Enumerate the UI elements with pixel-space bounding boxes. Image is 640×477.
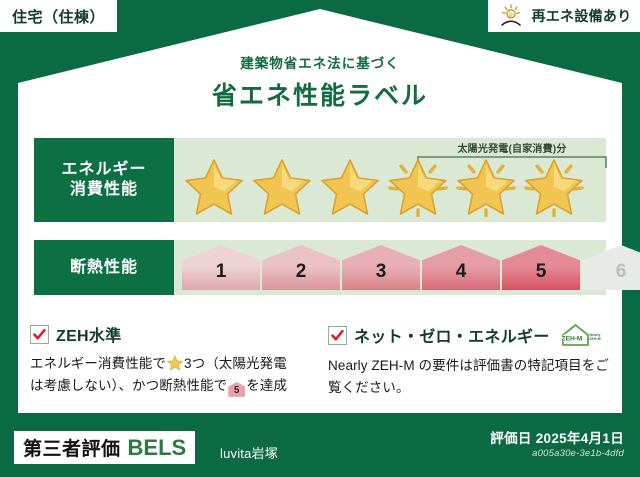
star-icon xyxy=(316,156,384,218)
insulation-performance-body: 1234567 xyxy=(174,240,606,295)
badge-renewable-equipment: D 再エネ設備あり xyxy=(488,0,640,32)
zeh-checkbox[interactable] xyxy=(30,325,49,344)
insulation-performance-label-panel: 断熱性能 xyxy=(34,240,174,295)
badge-building-type-label: 住宅（住棟） xyxy=(12,6,105,27)
note-zeh-header: ZEH水準 xyxy=(30,322,318,346)
energy-label-line1: エネルギー xyxy=(61,160,146,180)
nze-checkbox[interactable] xyxy=(328,326,347,345)
insulation-grade-strip: 1234567 xyxy=(182,245,640,290)
star-rating xyxy=(174,156,606,218)
bels-wordmark: BELS xyxy=(128,435,187,461)
svg-text:ZEH-M: ZEH-M xyxy=(589,337,600,341)
note-nze-header: ネット・ゼロ・エネルギー ZEH-M Nearly ZEH-M xyxy=(328,322,620,348)
star-icon-solar xyxy=(520,156,588,218)
note-zeh-text-3: を達成 xyxy=(246,378,287,393)
energy-performance-body: 太陽光発電(自家消費)分 xyxy=(174,138,606,222)
svg-text:ZEH-M: ZEH-M xyxy=(561,336,582,343)
insulation-grade-value: 5 xyxy=(536,261,547,283)
insulation-grade-value: 2 xyxy=(296,261,307,283)
star-icon xyxy=(180,156,248,218)
bels-third-party-label: 第三者評価 xyxy=(23,434,121,461)
insulation-grade-value: 1 xyxy=(216,261,227,283)
note-zeh-standard: ZEH水準 エネルギー消費性能で3つ（太陽光発電は考慮しない）、かつ断熱性能で5… xyxy=(30,322,318,397)
title-subtitle: 建築物省エネ法に基づく xyxy=(0,52,640,72)
note-zeh-text-1: エネルギー消費性能で xyxy=(30,356,166,371)
solar-bracket-label: 太陽光発電(自家消費)分 xyxy=(402,140,622,155)
energy-performance-label: 住宅（住棟） D 再エネ設備あり 建築物省エネ法に基づく 省エネ性能ラベル xyxy=(0,0,640,477)
evaluation-id: a005a30e-3e1b-4dfd xyxy=(532,448,624,459)
property-name: luvita岩塚 xyxy=(220,443,278,462)
note-zeh-title: ZEH水準 xyxy=(56,322,122,346)
badge-building-type: 住宅（住棟） xyxy=(0,0,117,32)
insulation-grade-1: 1 xyxy=(182,245,260,290)
note-zeh-star-count: 3つ（太陽光発電 xyxy=(184,356,287,371)
note-nze-body: Nearly ZEH-M の要件は評価書の特記項目をご覧ください。 xyxy=(328,355,620,399)
footer: 第三者評価 BELS luvita岩塚 評価日 2025年4月1日 a005a3… xyxy=(0,417,640,477)
star-icon-solar xyxy=(384,156,452,218)
star-icon-solar xyxy=(452,156,520,218)
title-block: 建築物省エネ法に基づく 省エネ性能ラベル xyxy=(0,52,640,112)
solar-sun-icon: D xyxy=(500,4,526,28)
note-net-zero-energy: ネット・ゼロ・エネルギー ZEH-M Nearly ZEH-M Nearly Z… xyxy=(328,322,620,399)
bels-badge: 第三者評価 BELS xyxy=(14,431,195,464)
note-zeh-text-2: は考慮しない）、かつ断熱性能で xyxy=(30,378,227,393)
note-zeh-body: エネルギー消費性能で3つ（太陽光発電は考慮しない）、かつ断熱性能で5を達成 xyxy=(30,353,318,397)
insulation-grade-4: 4 xyxy=(422,245,500,290)
star-icon xyxy=(248,156,316,218)
insulation-performance-row: 断熱性能 1234567 xyxy=(34,240,606,295)
insulation-grade-6: 6 xyxy=(582,245,640,290)
insulation-grade-5: 5 xyxy=(502,245,580,290)
insulation-label: 断熱性能 xyxy=(70,258,138,278)
insulation-grade-3: 3 xyxy=(342,245,420,290)
note-nze-title: ネット・ゼロ・エネルギー xyxy=(354,323,550,347)
insulation-grade-2: 2 xyxy=(262,245,340,290)
badge-renewable-label: 再エネ設備あり xyxy=(531,6,631,26)
zeh-m-logo-icon: ZEH-M Nearly ZEH-M xyxy=(559,322,603,348)
evaluation-date: 評価日 2025年4月1日 xyxy=(490,427,624,447)
inline-house-grade-icon: 5 xyxy=(228,382,245,397)
svg-text:D: D xyxy=(509,12,513,18)
energy-label-line2: 消費性能 xyxy=(70,180,138,200)
title-main: 省エネ性能ラベル xyxy=(0,76,640,112)
energy-performance-row: エネルギー 消費性能 太陽光発電(自家消費)分 xyxy=(34,138,606,222)
insulation-grade-value: 4 xyxy=(456,261,467,283)
energy-performance-label-panel: エネルギー 消費性能 xyxy=(34,138,174,222)
insulation-grade-value: 3 xyxy=(376,261,387,283)
inline-star-icon xyxy=(167,355,183,371)
insulation-grade-value: 6 xyxy=(616,261,627,283)
